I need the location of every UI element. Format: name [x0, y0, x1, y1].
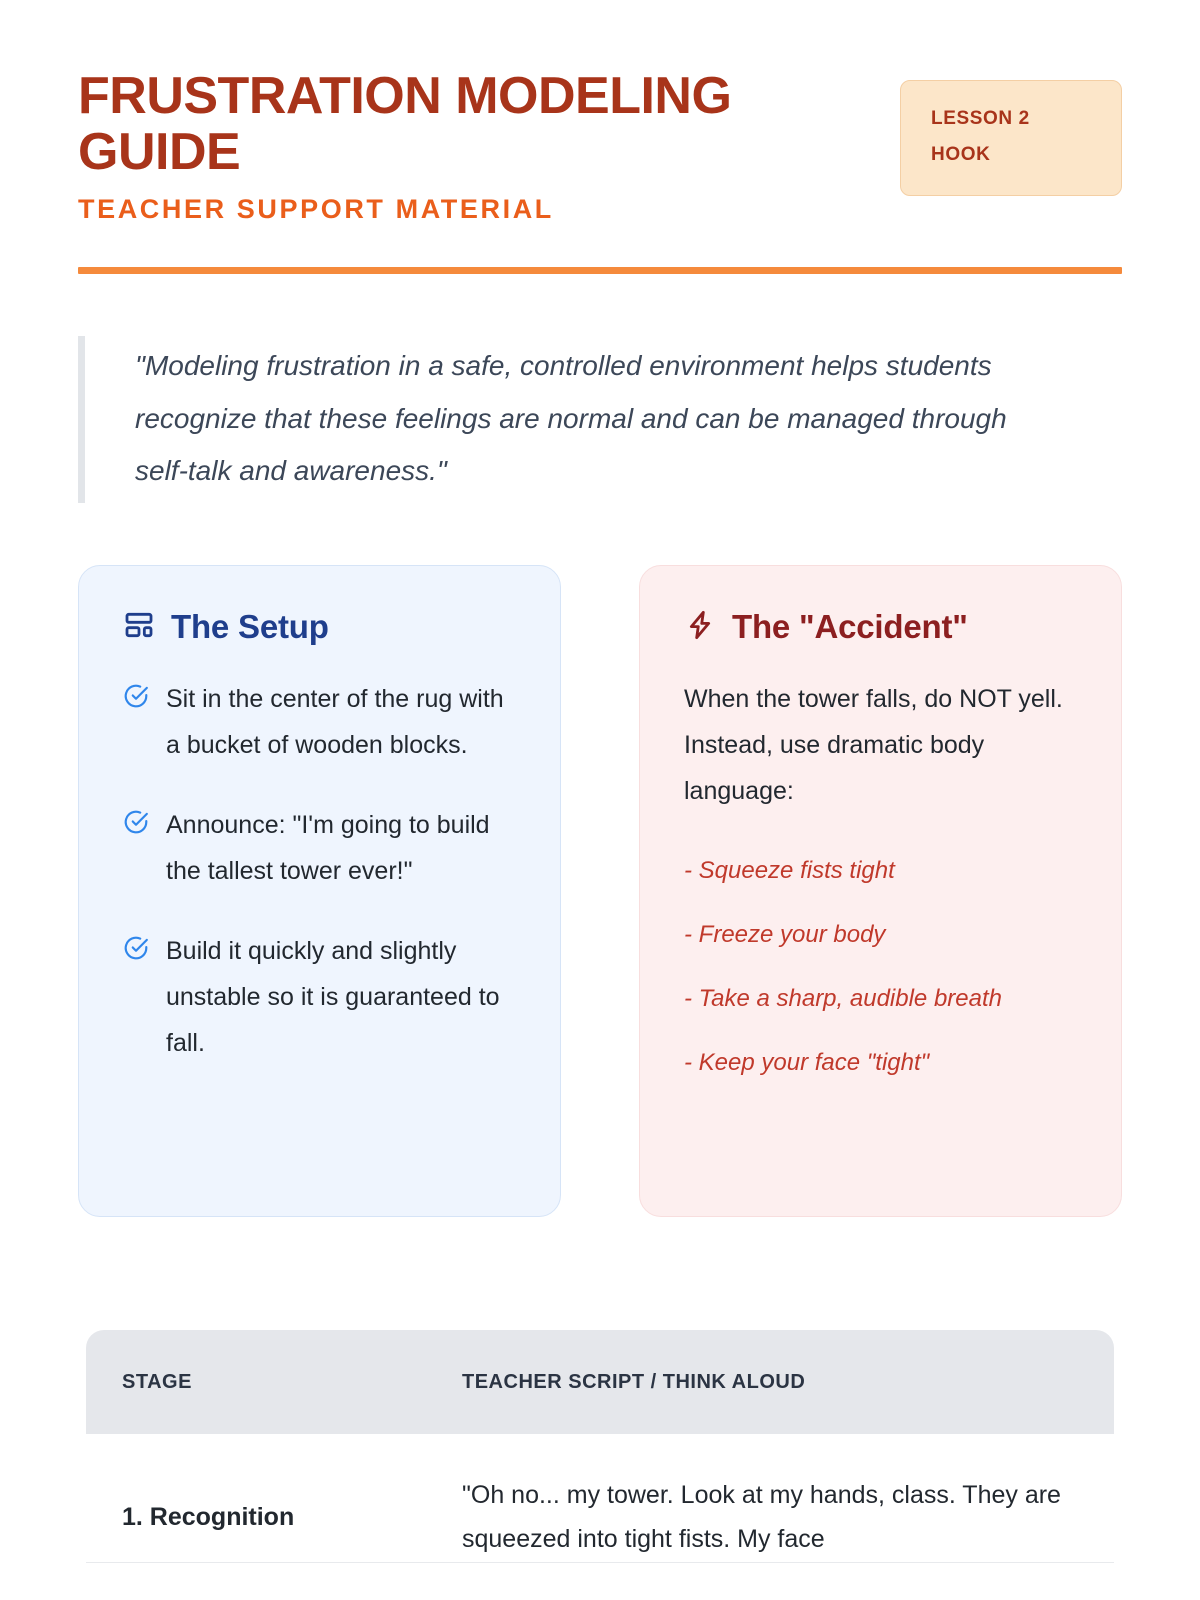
card-the-accident: The "Accident" When the tower falls, do …: [639, 565, 1122, 1217]
document-header: FRUSTRATION MODELING GUIDE TEACHER SUPPO…: [78, 0, 1122, 225]
page-subtitle: TEACHER SUPPORT MATERIAL: [78, 194, 778, 225]
accident-lead-text: When the tower falls, do NOT yell. Inste…: [684, 676, 1077, 814]
page-title: FRUSTRATION MODELING GUIDE: [78, 68, 778, 180]
lesson-badge-line-1: LESSON 2: [931, 101, 1095, 137]
list-item: - Squeeze fists tight: [684, 850, 1077, 892]
circle-check-icon: [123, 935, 149, 966]
lesson-badge: LESSON 2 HOOK: [900, 80, 1122, 196]
card-the-accident-header: The "Accident": [684, 608, 1077, 646]
header-accent-bar: [78, 267, 1122, 274]
list-item: Sit in the center of the rug with a buck…: [123, 676, 516, 768]
circle-check-icon: [123, 683, 149, 714]
accident-bullet-list: - Squeeze fists tight - Freeze your body…: [684, 850, 1077, 1083]
list-item: Build it quickly and slightly unstable s…: [123, 928, 516, 1066]
pull-quote: "Modeling frustration in a safe, control…: [78, 336, 1122, 503]
teacher-script-table: STAGE TEACHER SCRIPT / THINK ALOUD 1. Re…: [86, 1330, 1114, 1600]
layout-dashboard-icon: [123, 609, 155, 646]
table-row: 1. Recognition "Oh no... my tower. Look …: [86, 1434, 1114, 1563]
card-the-setup-title: The Setup: [171, 608, 329, 646]
list-item-label: Sit in the center of the rug with a buck…: [166, 676, 516, 768]
lesson-badge-line-2: HOOK: [931, 137, 1095, 173]
table-header-row: STAGE TEACHER SCRIPT / THINK ALOUD: [86, 1330, 1114, 1434]
cell-script: "Oh no... my tower. Look at my hands, cl…: [462, 1474, 1078, 1562]
cell-stage: 1. Recognition: [122, 1496, 462, 1540]
setup-step-list: Sit in the center of the rug with a buck…: [123, 676, 516, 1066]
pull-quote-text: "Modeling frustration in a safe, control…: [135, 340, 1065, 497]
column-header-stage: STAGE: [122, 1371, 462, 1394]
lightning-bolt-icon: [684, 609, 716, 646]
list-item-label: Announce: "I'm going to build the talles…: [166, 802, 516, 894]
card-the-setup: The Setup Sit in the center of the rug w…: [78, 565, 561, 1217]
list-item: Announce: "I'm going to build the talles…: [123, 802, 516, 894]
column-header-script: TEACHER SCRIPT / THINK ALOUD: [462, 1371, 1078, 1394]
circle-check-icon: [123, 809, 149, 840]
card-row: The Setup Sit in the center of the rug w…: [78, 565, 1122, 1217]
document-page: FRUSTRATION MODELING GUIDE TEACHER SUPPO…: [0, 0, 1200, 1600]
card-the-accident-title: The "Accident": [732, 608, 968, 646]
list-item: - Take a sharp, audible breath: [684, 978, 1077, 1020]
list-item: - Freeze your body: [684, 914, 1077, 956]
table-body: 1. Recognition "Oh no... my tower. Look …: [86, 1434, 1114, 1563]
list-item-label: Build it quickly and slightly unstable s…: [166, 928, 516, 1066]
list-item: - Keep your face "tight": [684, 1042, 1077, 1084]
card-the-setup-header: The Setup: [123, 608, 516, 646]
header-text-group: FRUSTRATION MODELING GUIDE TEACHER SUPPO…: [78, 68, 778, 225]
